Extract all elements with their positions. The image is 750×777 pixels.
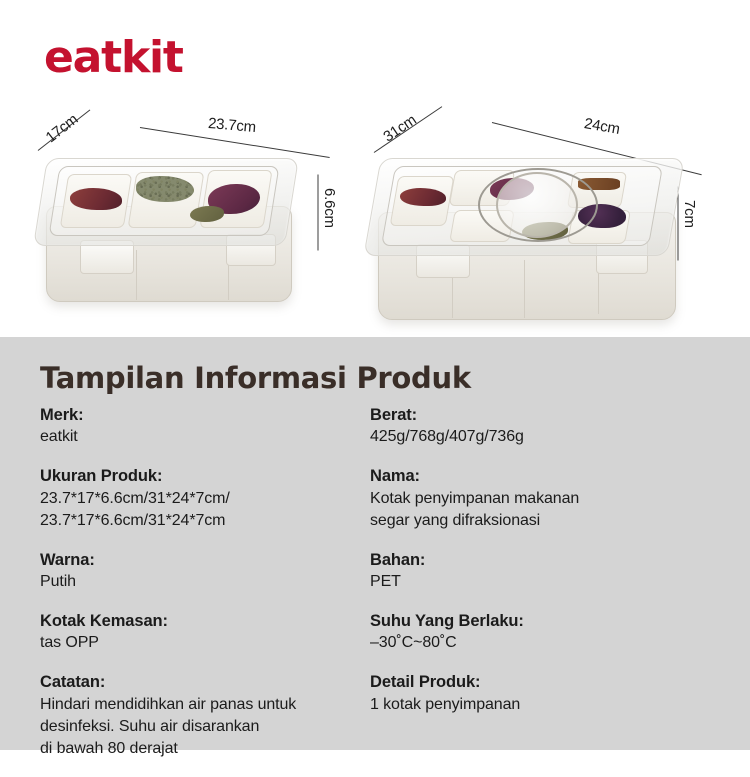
spec-value-kotak-kemasan: tas OPP xyxy=(40,632,370,654)
spec-value-berat: 425g/768g/407g/736g xyxy=(370,426,700,448)
spec-value-warna: Putih xyxy=(40,571,370,593)
product-image-large-box: 31cm 24cm 7cm xyxy=(368,108,728,333)
spec-item-berat: Berat: 425g/768g/407g/736g xyxy=(370,404,700,448)
spec-item-merk: Merk: eatkit xyxy=(40,404,370,448)
spec-column-left: Merk: eatkit Ukuran Produk: 23.7*17*6.6c… xyxy=(40,404,370,777)
spec-column-right: Berat: 425g/768g/407g/736g Nama: Kotak p… xyxy=(370,404,700,777)
spec-label-bahan: Bahan: xyxy=(370,549,700,571)
spec-value-bahan: PET xyxy=(370,571,700,593)
spec-label-berat: Berat: xyxy=(370,404,700,426)
spec-label-catatan: Catatan: xyxy=(40,671,370,693)
spec-value-nama: Kotak penyimpanan makanan segar yang dif… xyxy=(370,488,700,532)
spec-value-merk: eatkit xyxy=(40,426,370,448)
small-box-food-seeds xyxy=(136,176,194,202)
product-hero-section: eatkit 17cm 23.7cm 6.6cm xyxy=(0,0,750,337)
spec-item-warna: Warna: Putih xyxy=(40,549,370,593)
spec-label-ukuran-produk: Ukuran Produk: xyxy=(40,465,370,487)
large-box-center-handle xyxy=(478,168,598,242)
spec-label-nama: Nama: xyxy=(370,465,700,487)
spec-columns: Merk: eatkit Ukuran Produk: 23.7*17*6.6c… xyxy=(0,404,750,777)
product-info-panel: Tampilan Informasi Produk Merk: eatkit U… xyxy=(0,337,750,750)
spec-item-kotak-kemasan: Kotak Kemasan: tas OPP xyxy=(40,610,370,654)
spec-value-ukuran-produk: 23.7*17*6.6cm/31*24*7cm/ 23.7*17*6.6cm/3… xyxy=(40,488,370,532)
spec-label-suhu-yang-berlaku: Suhu Yang Berlaku: xyxy=(370,610,700,632)
small-box-food-chili xyxy=(70,188,122,210)
spec-value-detail-produk: 1 kotak penyimpanan xyxy=(370,694,700,716)
spec-item-nama: Nama: Kotak penyimpanan makanan segar ya… xyxy=(370,465,700,531)
small-box-illustration xyxy=(40,158,302,306)
large-box-food-chili xyxy=(400,188,446,206)
spec-label-detail-produk: Detail Produk: xyxy=(370,671,700,693)
spec-item-ukuran-produk: Ukuran Produk: 23.7*17*6.6cm/31*24*7cm/ … xyxy=(40,465,370,531)
spec-item-bahan: Bahan: PET xyxy=(370,549,700,593)
spec-label-kotak-kemasan: Kotak Kemasan: xyxy=(40,610,370,632)
dimension-label-width-large: 24cm xyxy=(583,115,621,138)
dimension-label-depth-small: 17cm xyxy=(43,111,82,146)
large-box-front-seam-2 xyxy=(524,260,525,318)
spec-item-suhu-yang-berlaku: Suhu Yang Berlaku: –30˚C~80˚C xyxy=(370,610,700,654)
spec-item-detail-produk: Detail Produk: 1 kotak penyimpanan xyxy=(370,671,700,715)
brand-logo: eatkit xyxy=(44,36,183,80)
dimension-label-width-small: 23.7cm xyxy=(207,115,256,136)
dimension-label-height-small: 6.6cm xyxy=(321,188,338,228)
page-title: Tampilan Informasi Produk xyxy=(40,361,471,395)
spec-label-merk: Merk: xyxy=(40,404,370,426)
dimension-label-depth-large: 31cm xyxy=(380,111,419,145)
spec-item-catatan: Catatan: Hindari mendidihkan air panas u… xyxy=(40,671,370,760)
small-box-front-seam-1 xyxy=(136,250,137,300)
product-image-small-box: 17cm 23.7cm 6.6cm xyxy=(30,112,350,322)
large-box-illustration xyxy=(372,158,684,324)
spec-label-warna: Warna: xyxy=(40,549,370,571)
spec-value-suhu-yang-berlaku: –30˚C~80˚C xyxy=(370,632,700,654)
dimension-line-height-small xyxy=(318,175,319,251)
spec-value-catatan: Hindari mendidihkan air panas untuk desi… xyxy=(40,694,370,760)
